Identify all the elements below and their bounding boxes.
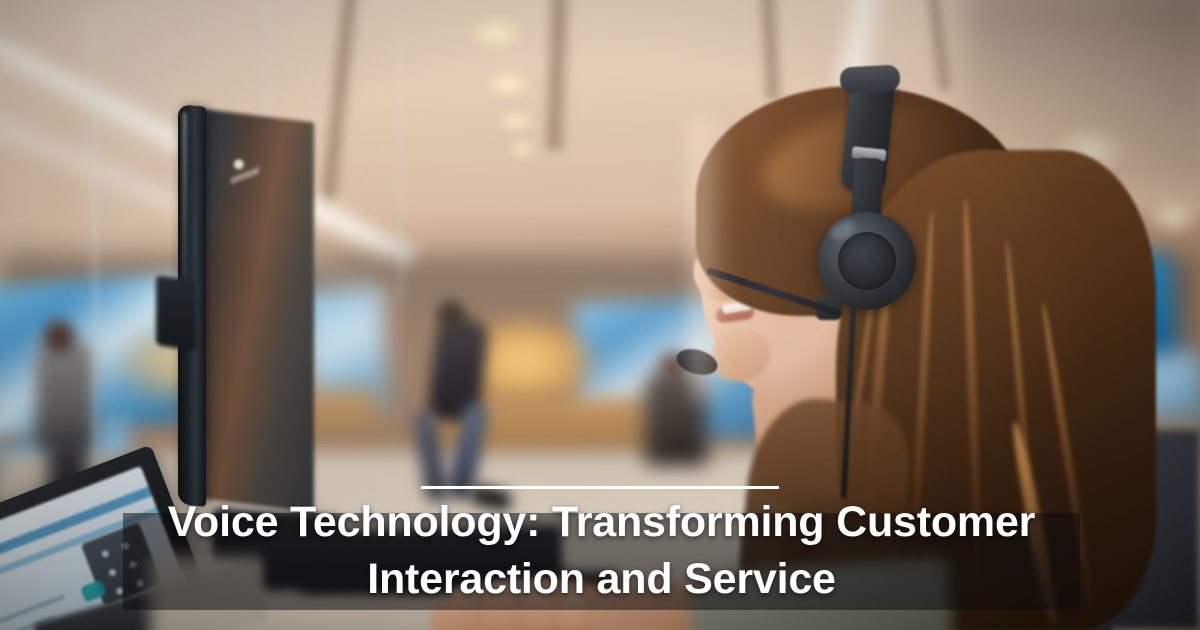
rim-light: [690, 120, 730, 400]
headset-earcup-inner: [838, 232, 896, 290]
hero-banner: Voice Technology: Transforming Customer …: [0, 0, 1200, 630]
headset-headband: [839, 64, 900, 93]
page-title: Voice Technology: Transforming Customer …: [123, 494, 1080, 608]
title-divider-rule: [421, 486, 779, 489]
